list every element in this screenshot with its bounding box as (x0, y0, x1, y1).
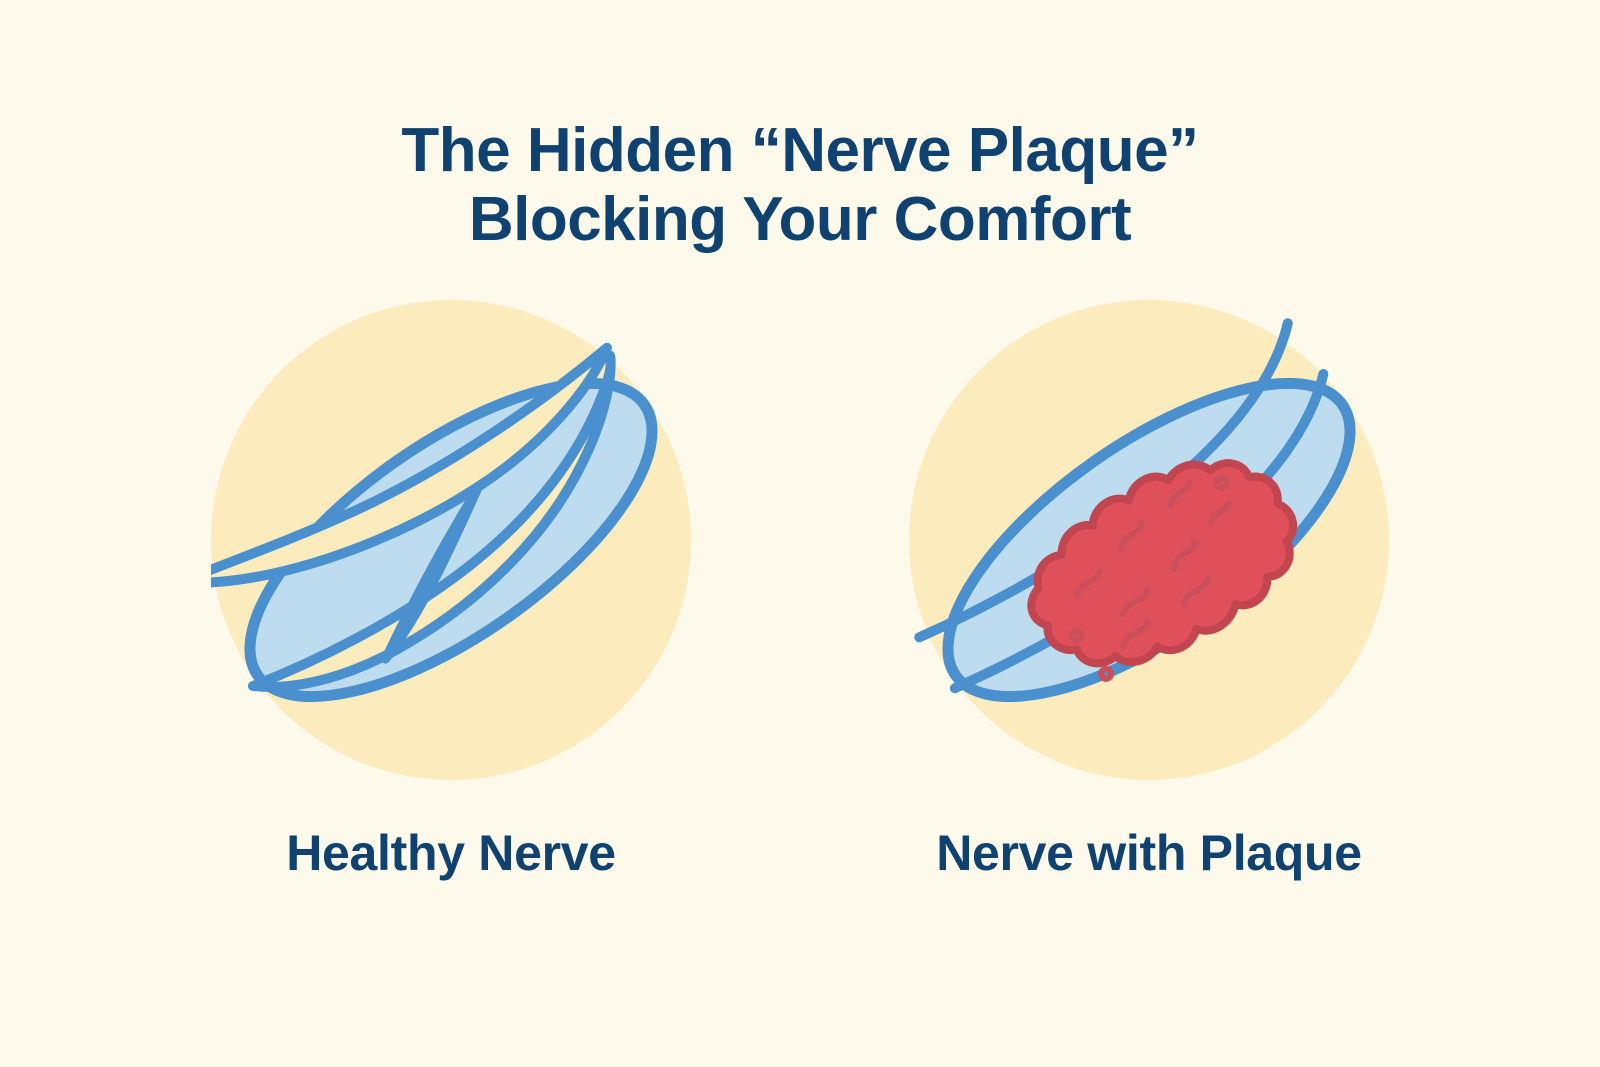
page-title-line-1: The Hidden “Nerve Plaque” (0, 116, 1600, 185)
page-title-line-2: Blocking Your Comfort (0, 185, 1600, 254)
panel-caption-healthy: Healthy Nerve (286, 824, 616, 882)
panel-nerve-with-plaque: Nerve with Plaque (909, 300, 1389, 882)
healthy-nerve-cross-section-icon (211, 300, 691, 780)
infographic-page: The Hidden “Nerve Plaque” Blocking Your … (0, 0, 1600, 1067)
panel-caption-plaque: Nerve with Plaque (936, 824, 1362, 882)
comparison-panels: Healthy Nerve (0, 300, 1600, 920)
panel-healthy-nerve: Healthy Nerve (211, 300, 691, 882)
page-title: The Hidden “Nerve Plaque” Blocking Your … (0, 116, 1600, 255)
plaque-nerve-cross-section-icon (909, 300, 1389, 780)
